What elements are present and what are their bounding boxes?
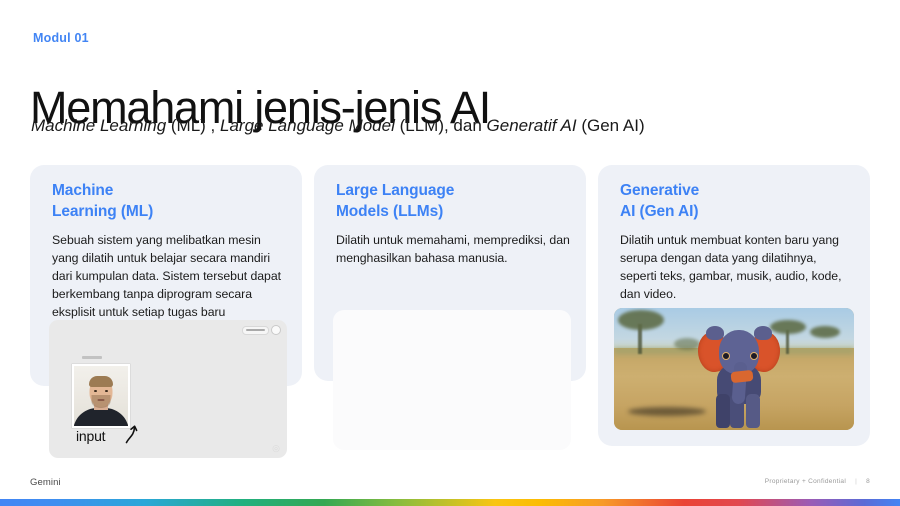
footer-brand-gemini: Gemini	[30, 477, 61, 488]
photo-elephant-shadow	[628, 407, 706, 416]
subscribe-label-pill	[242, 326, 269, 335]
elephant-ear-top-left	[706, 326, 724, 340]
media-video-ui-screenshot: input ◎	[49, 320, 287, 458]
media-watermark: ◎	[272, 443, 280, 454]
photo-tree-canopy-3	[810, 326, 840, 338]
subscribe-badge	[242, 325, 281, 335]
elephant-leg-1	[716, 394, 730, 428]
slide-root: Modul 01 Memahami jenis-jenis AI Machine…	[0, 0, 900, 506]
card-generative-ai: Generative AI (Gen AI) Dilatih untuk mem…	[598, 165, 870, 446]
footer-separator: |	[855, 478, 857, 485]
media-photo-knitted-elephant	[614, 308, 854, 430]
card-heading-line1: Large Language	[336, 182, 454, 199]
subtitle-term-ml: Machine Learning	[31, 116, 166, 135]
card-body-machine-learning: Sebuah sistem yang melibatkan mesin yang…	[52, 231, 288, 321]
elephant-leg-3	[746, 394, 760, 428]
curved-arrow-icon	[123, 424, 139, 444]
card-heading-large-language-models: Large Language Models (LLMs)	[336, 181, 454, 222]
card-heading-line1: Machine	[52, 182, 113, 199]
avatar-circle-icon	[271, 325, 281, 335]
person-eye-left	[94, 390, 97, 392]
video-thumbnail-person	[72, 364, 130, 428]
card-heading-generative-ai: Generative AI (Gen AI)	[620, 181, 699, 222]
page-subtitle: Machine Learning (ML) , Large Language M…	[31, 115, 645, 137]
input-annotation-label: input	[76, 428, 105, 444]
card-body-large-language-models: Dilatih untuk memahami, memprediksi, dan…	[336, 231, 572, 267]
elephant-eye-left	[722, 352, 730, 360]
elephant-trunk-band	[730, 370, 753, 383]
module-eyebrow: Modul 01	[33, 31, 89, 45]
subtitle-text-1: (ML) ,	[166, 116, 220, 135]
cards-container: Machine Learning (ML) Sebuah sistem yang…	[30, 165, 870, 465]
card-body-generative-ai: Dilatih untuk membuat konten baru yang s…	[620, 231, 856, 303]
card-heading-line2: AI (Gen AI)	[620, 203, 698, 220]
subtitle-term-llm: Large Language Model	[220, 116, 395, 135]
subtitle-text-2: (LLM), dan	[395, 116, 487, 135]
card-heading-machine-learning: Machine Learning (ML)	[52, 181, 153, 222]
brand-gradient-bar	[0, 499, 900, 506]
footer-page-number: 8	[866, 478, 870, 485]
footer-confidentiality: Proprietary + Confidential	[765, 478, 846, 485]
card-heading-line2: Learning (ML)	[52, 203, 153, 220]
card-heading-line2: Models (LLMs)	[336, 203, 443, 220]
person-beard	[92, 395, 111, 408]
photo-tree-canopy-1	[618, 310, 664, 330]
elephant-eye-right	[750, 352, 758, 360]
photo-bush-1	[674, 338, 700, 350]
subtitle-term-genai: Generatif AI	[487, 116, 577, 135]
footer-meta: Proprietary + Confidential | 8	[765, 478, 870, 485]
person-eye-right	[105, 390, 108, 392]
thumbnail-caption-placeholder	[82, 356, 102, 359]
card-large-language-models: Large Language Models (LLMs) Dilatih unt…	[314, 165, 586, 381]
person-mouth	[98, 399, 105, 401]
elephant-ear-top-right	[754, 326, 772, 340]
person-hair	[89, 376, 113, 387]
card-heading-line1: Generative	[620, 182, 699, 199]
photo-elephant	[700, 324, 778, 428]
subtitle-text-3: (Gen AI)	[577, 116, 645, 135]
media-blank-panel	[333, 310, 571, 450]
